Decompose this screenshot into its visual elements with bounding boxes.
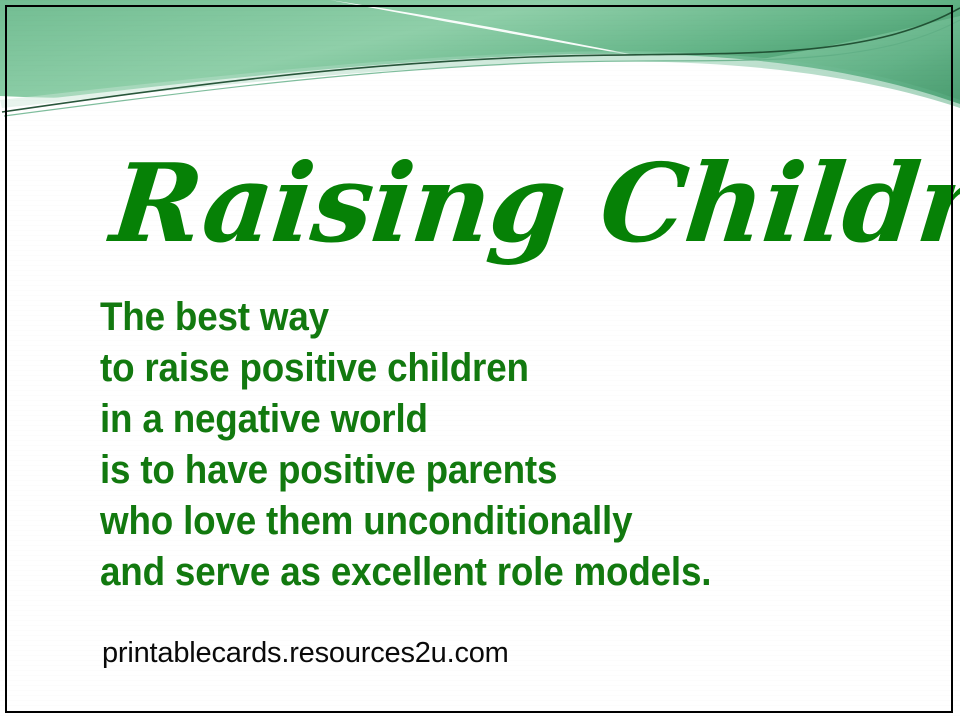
quote-line: who love them unconditionally [100,496,827,547]
swoosh-svg [0,0,960,130]
quote-line: in a negative world [100,394,827,445]
quote-block: The best way to raise positive children … [100,292,890,598]
page-title: Raising Children [104,124,901,284]
quote-line: The best way [100,292,827,343]
quote-line: and serve as excellent role models. [100,547,827,598]
quote-line: is to have positive parents [100,445,827,496]
greeting-card: Raising Children The best way to raise p… [0,0,960,720]
source-attribution: printablecards.resources2u.com [102,637,509,670]
quote-line: to raise positive children [100,343,827,394]
header-swoosh-artwork [0,0,960,130]
